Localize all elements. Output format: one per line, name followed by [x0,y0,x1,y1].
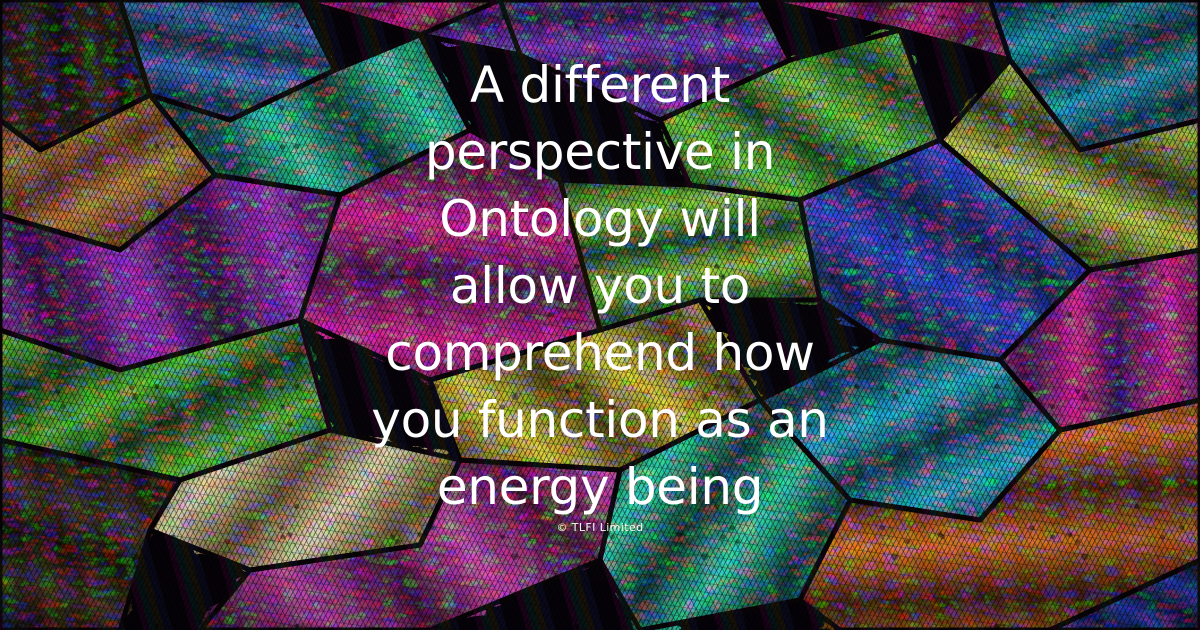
quote-line-2: perspective in [0,119,1200,186]
copyright-credit: © TLFI Limited [0,521,1200,534]
quote-line-4: allow you to [0,253,1200,320]
quote-card: A different perspective in Ontology will… [0,0,1200,630]
quote-line-6: you function as an [0,387,1200,454]
quote-line-3: Ontology will [0,186,1200,253]
quote-line-5: comprehend how [0,320,1200,387]
quote-line-1: A different [0,52,1200,119]
quote-text: A different perspective in Ontology will… [0,52,1200,521]
quote-line-7: energy being [0,454,1200,521]
